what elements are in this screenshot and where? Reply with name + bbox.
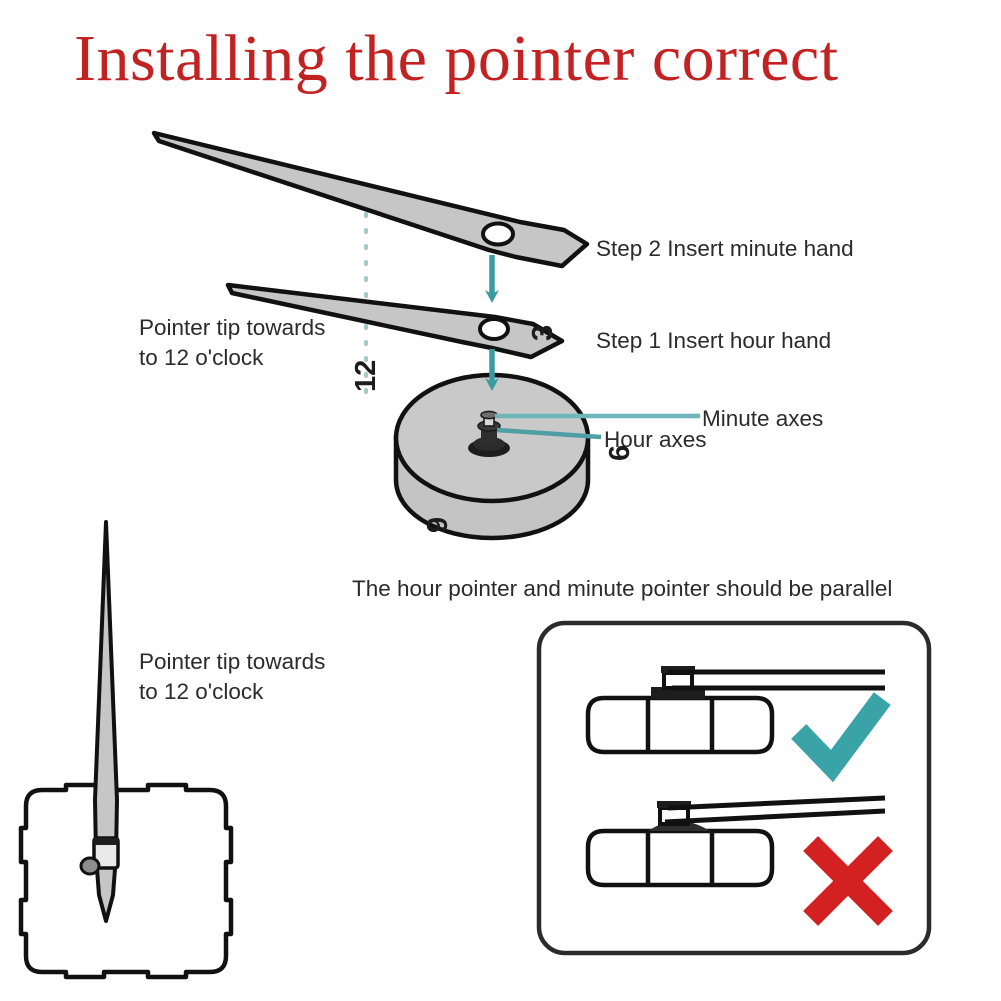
vertical-pointer-shape <box>81 522 118 921</box>
pointer-tip-note-top: Pointer tip towards to 12 o'clock <box>139 313 325 372</box>
parallel-caption: The hour pointer and minute pointer shou… <box>352 574 892 604</box>
hour-hand-hole <box>480 319 508 339</box>
minute-hand-shape <box>154 133 587 266</box>
step-1-label: Step 1 Insert hour hand <box>596 326 831 356</box>
pointer-tip-note-top-line2: to 12 o'clock <box>139 343 325 373</box>
pointer-tip-note-bottom-line1: Pointer tip towards <box>139 647 325 677</box>
clock-numeral-3: 3 <box>529 325 558 341</box>
minute-hand-hole <box>483 224 513 245</box>
pointer-tip-note-top-line1: Pointer tip towards <box>139 313 325 343</box>
pointer-tip-note-bottom-line2: to 12 o'clock <box>139 677 325 707</box>
pointer-tip-note-bottom: Pointer tip towards to 12 o'clock <box>139 647 325 706</box>
illustration-artwork <box>0 0 1001 1001</box>
clock-numeral-9: 9 <box>424 517 453 533</box>
diagram-canvas: Installing the pointer correct Step 2 In… <box>0 0 1001 1001</box>
minute-axes-label: Minute axes <box>702 404 823 434</box>
clock-numeral-12: 12 <box>352 360 381 392</box>
page-title: Installing the pointer correct <box>74 26 974 92</box>
clock-numeral-6: 6 <box>606 445 635 461</box>
minute-axis-tip <box>481 411 497 418</box>
step-2-label: Step 2 Insert minute hand <box>596 234 854 264</box>
movement-housing-front-view <box>21 785 231 977</box>
